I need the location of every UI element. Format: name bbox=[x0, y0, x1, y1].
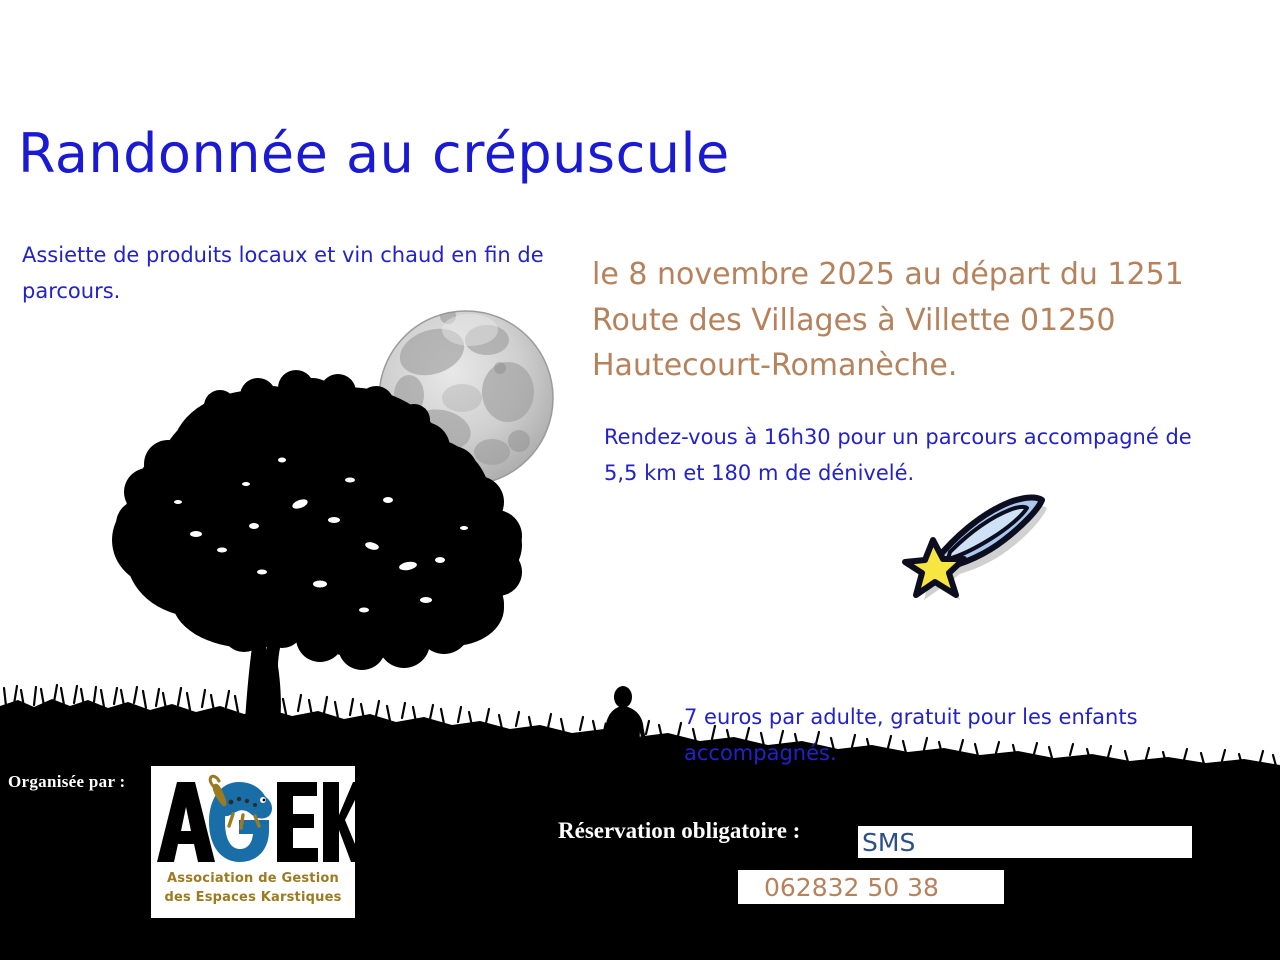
price-note: 7 euros par adulte, gratuit pour les enf… bbox=[684, 699, 1204, 771]
food-note: Assiette de produits locaux et vin chaud… bbox=[22, 237, 582, 309]
reservation-label: Réservation obligatoire : bbox=[558, 818, 800, 844]
address-block: le 8 novembre 2025 au départ du 1251 Rou… bbox=[592, 252, 1272, 389]
agek-logo: Association de Gestion des Espaces Karst… bbox=[151, 766, 355, 918]
reservation-phone-box: 062832 50 38 bbox=[738, 870, 1004, 904]
agek-subtitle-line1: Association de Gestion bbox=[151, 870, 355, 889]
agek-logo-subtitle: Association de Gestion des Espaces Karst… bbox=[151, 870, 355, 908]
reservation-sms-text: SMS bbox=[862, 828, 915, 857]
poster-canvas: Randonnée au crépuscule Assiette de prod… bbox=[0, 0, 1280, 960]
agek-subtitle-line2: des Espaces Karstiques bbox=[151, 889, 355, 908]
reservation-sms-box: SMS bbox=[858, 826, 1192, 858]
organiser-label: Organisée par : bbox=[8, 772, 126, 792]
agek-logo-letters bbox=[151, 772, 355, 868]
reservation-phone-text: 062832 50 38 bbox=[764, 873, 939, 902]
page-title: Randonnée au crépuscule bbox=[18, 124, 730, 183]
meeting-note: Rendez-vous à 16h30 pour un parcours acc… bbox=[604, 419, 1224, 491]
